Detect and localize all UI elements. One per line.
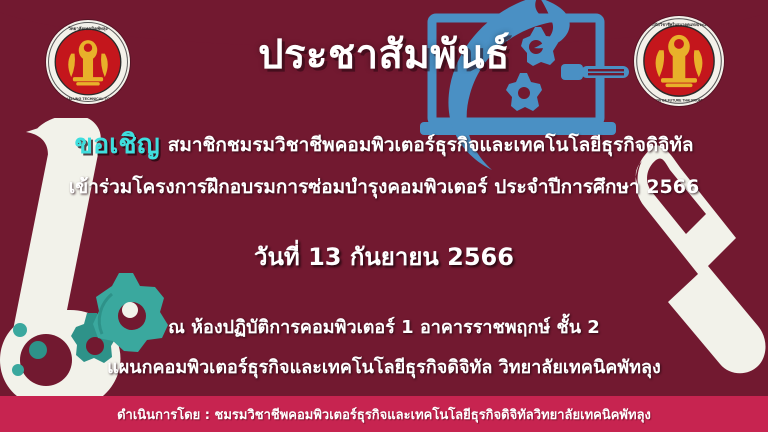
page-title: ประชาสัมพันธ์ bbox=[0, 22, 768, 86]
poster-content: ประชาสัมพันธ์ ขอเชิญสมาชิกชมรมวิชาชีพคอม… bbox=[0, 0, 768, 432]
footer-bar: ดำเนินการโดย : ชมรมวิชาชีพคอมพิวเตอร์ธุร… bbox=[0, 396, 768, 432]
footer-organizer: ดำเนินการโดย : ชมรมวิชาชีพคอมพิวเตอร์ธุร… bbox=[117, 404, 651, 425]
venue-room: ณ ห้องปฏิบัติการคอมพิวเตอร์ 1 อาคารราชพฤ… bbox=[0, 312, 768, 341]
program-line: เข้าร่วมโครงการฝึกอบรมการซ่อมบำรุงคอมพิว… bbox=[0, 172, 768, 202]
invite-audience: สมาชิกชมรมวิชาชีพคอมพิวเตอร์ธุรกิจและเทค… bbox=[168, 134, 694, 156]
announcement-poster: วิทยาลัยเทคนิคพัทลุง PHATTHALUNG TECHNIC… bbox=[0, 0, 768, 432]
event-date: วันที่ 13 กันยายน 2566 bbox=[0, 237, 768, 276]
invite-keyword: ขอเชิญ bbox=[74, 129, 159, 160]
venue-department: แผนกคอมพิวเตอร์ธุรกิจและเทคโนโลยีธุรกิจด… bbox=[0, 352, 768, 381]
invite-line: ขอเชิญสมาชิกชมรมวิชาชีพคอมพิวเตอร์ธุรกิจ… bbox=[0, 122, 768, 165]
